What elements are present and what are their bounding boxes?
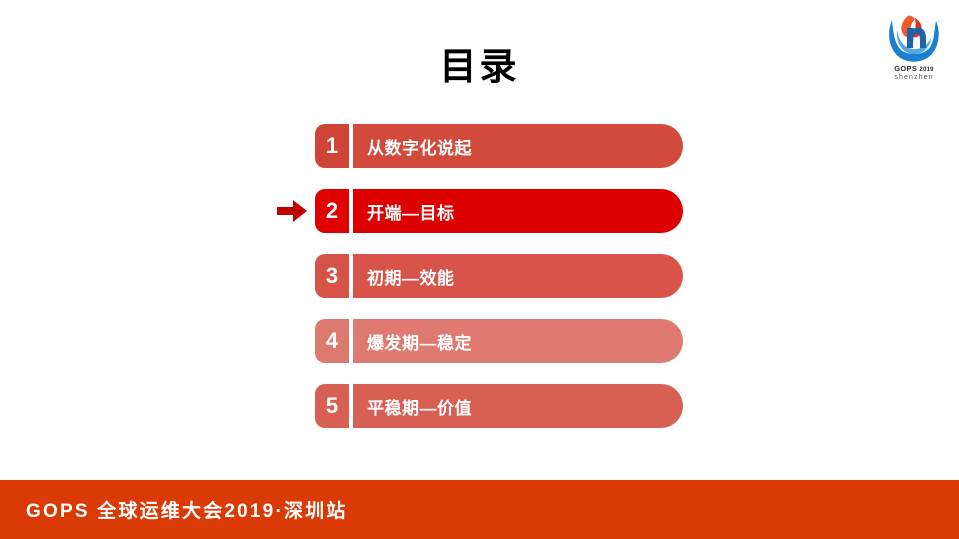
toc-item-4[interactable]: 4 爆发期—稳定 bbox=[0, 319, 959, 363]
footer-text: GOPS 全球运维大会2019·深圳站 bbox=[26, 496, 348, 523]
toc-item-5[interactable]: 5 平稳期—价值 bbox=[0, 384, 959, 428]
toc-badge-4: 4 bbox=[315, 319, 349, 363]
toc-badge-5: 5 bbox=[315, 384, 349, 428]
toc-list: 1 从数字化说起 2 开端—目标 3 初期 bbox=[0, 124, 959, 428]
toc-item-2[interactable]: 2 开端—目标 bbox=[0, 189, 959, 233]
toc-bar-1[interactable]: 从数字化说起 bbox=[353, 124, 683, 168]
toc-label-3: 初期—效能 bbox=[367, 264, 455, 289]
page-title: 目录 bbox=[0, 48, 959, 85]
toc-bar-4[interactable]: 爆发期—稳定 bbox=[353, 319, 683, 363]
right-arrow-icon bbox=[277, 199, 307, 223]
toc-label-4: 爆发期—稳定 bbox=[367, 329, 472, 354]
toc-label-1: 从数字化说起 bbox=[367, 134, 472, 159]
toc-item-1[interactable]: 1 从数字化说起 bbox=[0, 124, 959, 168]
toc-badge-1: 1 bbox=[315, 124, 349, 168]
toc-item-3[interactable]: 3 初期—效能 bbox=[0, 254, 959, 298]
toc-bar-3[interactable]: 初期—效能 bbox=[353, 254, 683, 298]
toc-bar-2[interactable]: 开端—目标 bbox=[353, 189, 683, 233]
toc-badge-2: 2 bbox=[315, 189, 349, 233]
toc-bar-5[interactable]: 平稳期—价值 bbox=[353, 384, 683, 428]
toc-label-5: 平稳期—价值 bbox=[367, 394, 472, 419]
footer-bar: GOPS 全球运维大会2019·深圳站 bbox=[0, 480, 959, 539]
toc-label-2: 开端—目标 bbox=[367, 199, 455, 224]
toc-badge-3: 3 bbox=[315, 254, 349, 298]
slide-root: GOPS 2019 shenzhen 目录 1 从数字化说起 bbox=[0, 0, 959, 539]
